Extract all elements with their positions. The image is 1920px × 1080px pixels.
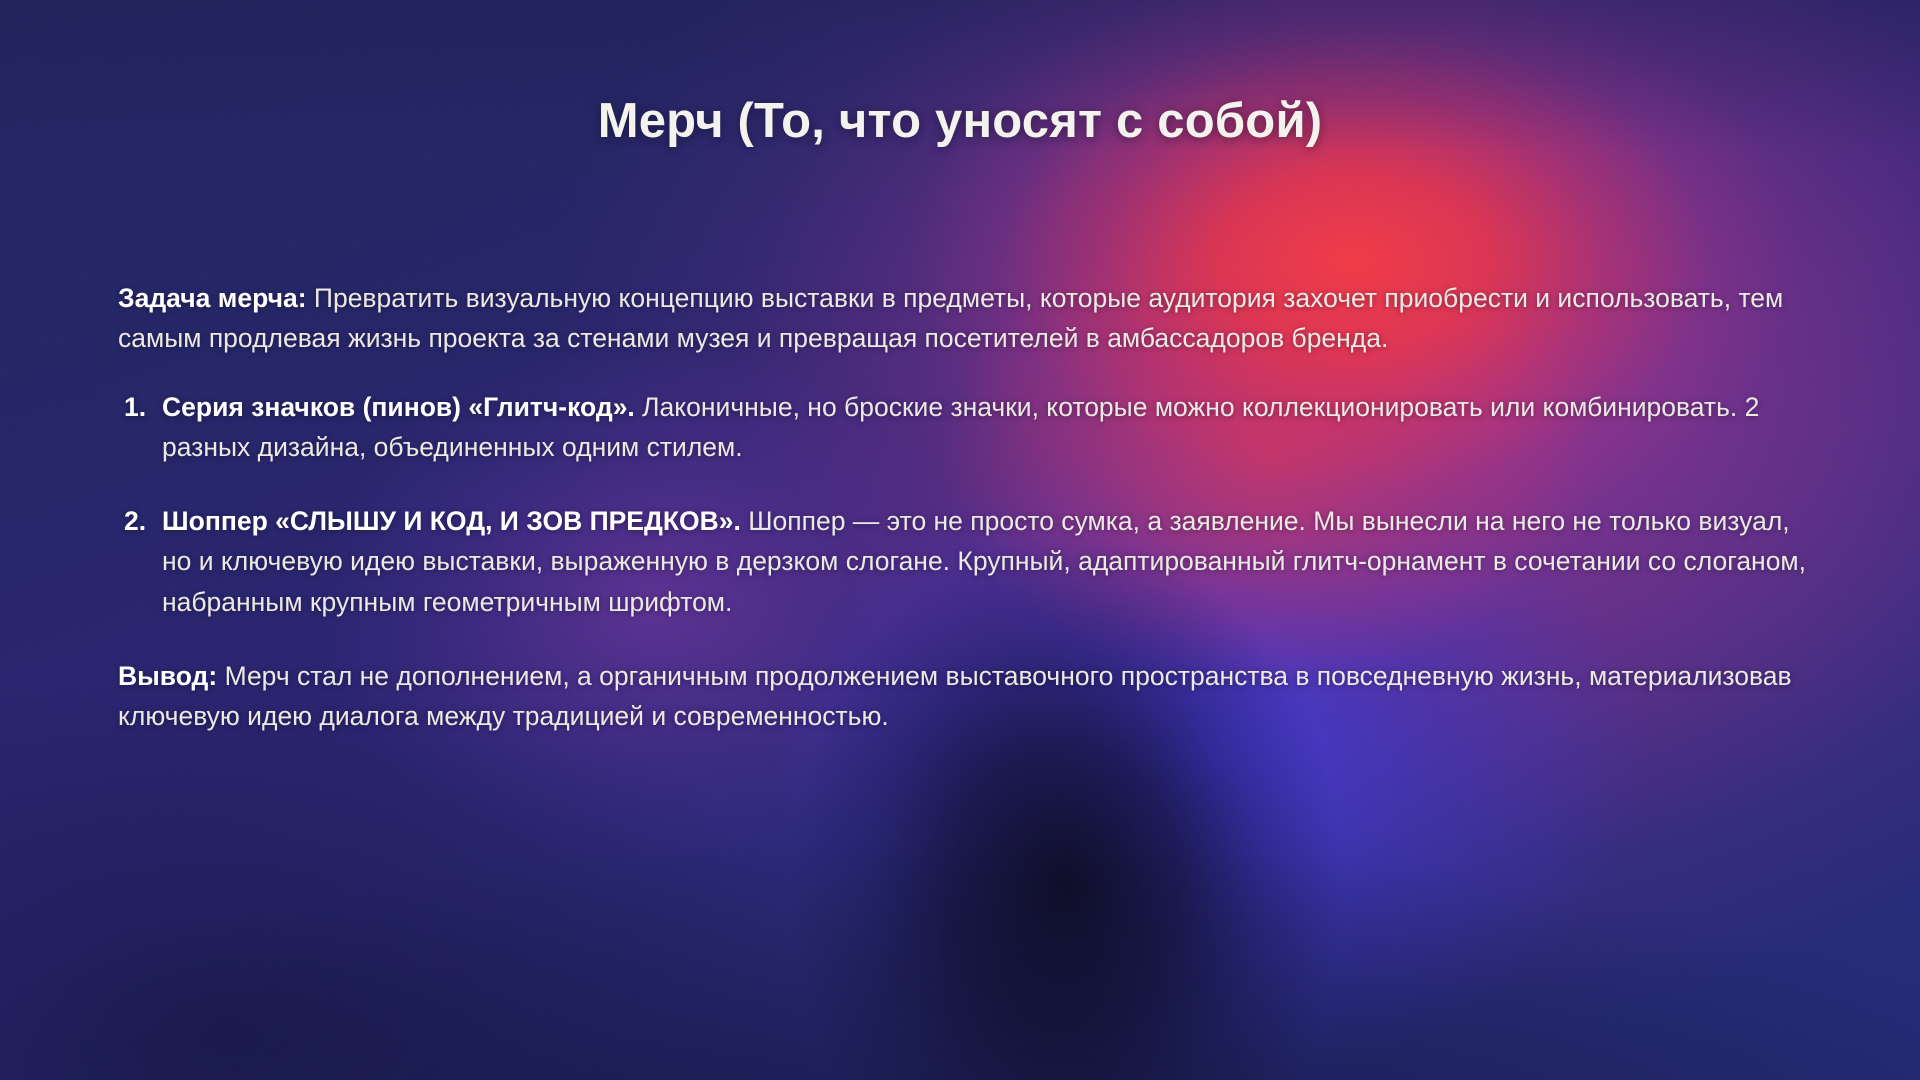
- conclusion-text: Мерч стал не дополнением, а органичным п…: [118, 661, 1792, 731]
- slide-body: Задача мерча: Превратить визуальную конц…: [118, 278, 1820, 764]
- intro-text: Превратить визуальную концепцию выставки…: [118, 283, 1783, 353]
- merch-items-list: Серия значков (пинов) «Глитч-код». Лакон…: [118, 387, 1820, 622]
- presentation-slide: Мерч (То, что уносят с собой) Задача мер…: [0, 0, 1920, 1080]
- slide-content: Мерч (То, что уносят с собой) Задача мер…: [0, 0, 1920, 1080]
- intro-lead-label: Задача мерча:: [118, 283, 307, 313]
- list-item-lead-label: Серия значков (пинов) «Глитч-код».: [162, 392, 635, 422]
- conclusion-paragraph: Вывод: Мерч стал не дополнением, а орган…: [118, 656, 1820, 737]
- page-title: Мерч (То, что уносят с собой): [0, 93, 1920, 149]
- list-item: Шоппер «СЛЫШУ И КОД, И ЗОВ ПРЕДКОВ». Шоп…: [118, 501, 1820, 622]
- intro-paragraph: Задача мерча: Превратить визуальную конц…: [118, 278, 1820, 359]
- conclusion-lead-label: Вывод:: [118, 661, 217, 691]
- list-item-lead-label: Шоппер «СЛЫШУ И КОД, И ЗОВ ПРЕДКОВ».: [162, 506, 741, 536]
- list-item: Серия значков (пинов) «Глитч-код». Лакон…: [118, 387, 1820, 468]
